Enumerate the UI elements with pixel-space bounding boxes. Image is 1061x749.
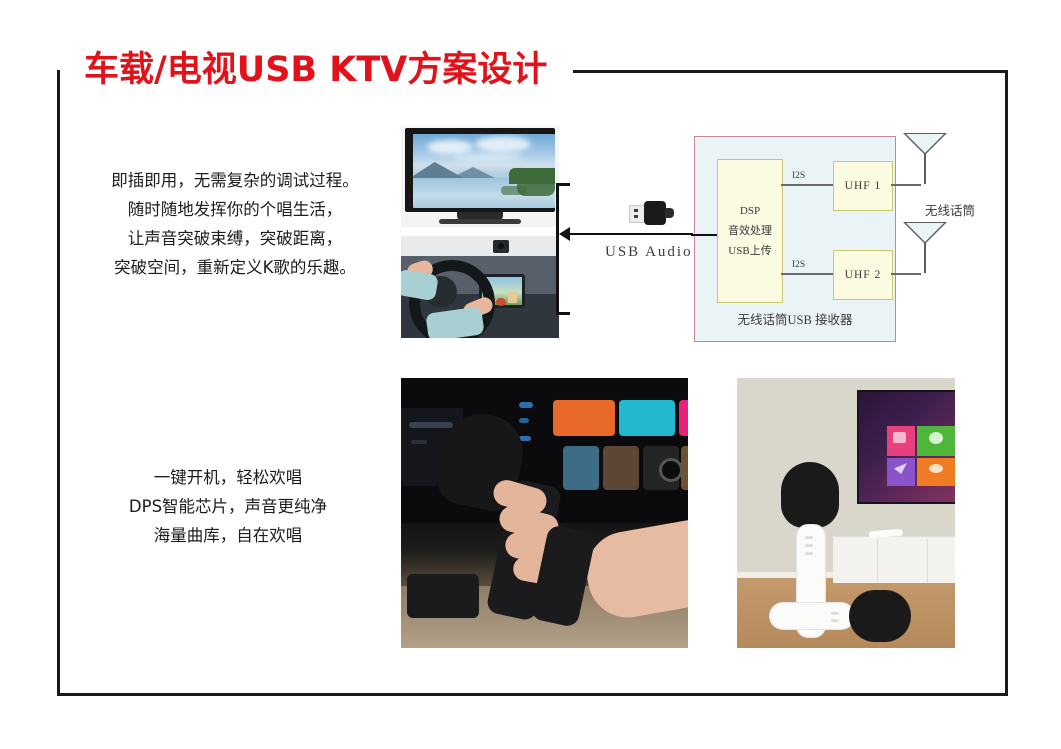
screen-thumb bbox=[563, 446, 599, 490]
cloud-shape bbox=[427, 140, 473, 154]
screen-tile-cyan bbox=[619, 400, 675, 436]
usb-audio-label: USB Audio bbox=[605, 244, 693, 261]
usb-pin bbox=[634, 215, 638, 218]
tv-icon-chat bbox=[929, 432, 943, 444]
microphones-living-room-photo bbox=[737, 378, 955, 648]
screen-tile-orange bbox=[553, 400, 615, 436]
screen-thumb bbox=[681, 446, 688, 490]
antenna-triangle-inner bbox=[906, 223, 944, 242]
feature-paragraph-top: 即插即用，无需复杂的调试过程。 随时随地发挥你的个唱生活， 让声音突破束缚，突破… bbox=[80, 166, 390, 282]
usb-pin bbox=[634, 209, 638, 212]
antenna-stem bbox=[924, 243, 926, 273]
antenna-wire-bottom bbox=[891, 273, 921, 275]
screen-text-line bbox=[411, 440, 427, 444]
car-windshield bbox=[401, 236, 559, 258]
microphone-button bbox=[831, 619, 839, 622]
screen-tile bbox=[496, 298, 506, 306]
cloud-shape bbox=[453, 152, 523, 162]
bracket-top-arm bbox=[556, 183, 570, 186]
uhf2-label: UHF 2 bbox=[845, 269, 882, 281]
i2s-label-top: I2S bbox=[792, 171, 805, 181]
antenna-stem bbox=[924, 154, 926, 184]
microphone-button bbox=[805, 536, 813, 539]
tv-foot bbox=[439, 219, 521, 224]
copy-line: 海量曲库，自在欢唱 bbox=[78, 521, 378, 550]
tv-icon-eye bbox=[929, 464, 943, 473]
feature-paragraph-bottom: 一键开机，轻松欢唱 DPS智能芯片，声音更纯净 海量曲库，自在欢唱 bbox=[78, 463, 378, 550]
car-dashboard-photo bbox=[401, 236, 559, 338]
slide-canvas: 车载/电视USB KTV方案设计 即插即用，无需复杂的调试过程。 随时随地发挥你… bbox=[0, 0, 1061, 749]
screen-tile-pink bbox=[679, 400, 688, 436]
bracket-bottom-arm bbox=[556, 312, 570, 315]
microphone-foam-head-lying bbox=[849, 590, 911, 642]
dsp-title: DSP bbox=[740, 201, 760, 221]
antenna-triangle bbox=[903, 133, 947, 155]
diagram-caption: 无线话筒USB 接收器 bbox=[695, 309, 895, 328]
i2s-wire-top bbox=[781, 184, 833, 186]
copy-line: 随时随地发挥你的个唱生活， bbox=[80, 195, 390, 224]
cabinet-seam bbox=[877, 539, 878, 583]
microphone-button bbox=[805, 544, 813, 547]
signal-arrow-line bbox=[566, 233, 693, 235]
tv-cabinet bbox=[833, 536, 955, 583]
copy-line: DPS智能芯片，声音更纯净 bbox=[78, 492, 378, 521]
copy-line: 一键开机，轻松欢唱 bbox=[78, 463, 378, 492]
antenna-triangle bbox=[903, 222, 947, 244]
tv-screen bbox=[413, 134, 555, 208]
copy-line: 突破空间，重新定义K歌的乐趣。 bbox=[80, 253, 390, 282]
screen-thumb-disc bbox=[659, 458, 683, 482]
usb-shell bbox=[644, 201, 666, 225]
copy-line: 让声音突破束缚，突破距离， bbox=[80, 224, 390, 253]
tv-bezel bbox=[405, 128, 555, 212]
screen-text-line bbox=[409, 422, 453, 428]
usb-tail bbox=[665, 208, 674, 218]
bracket-vertical bbox=[556, 183, 559, 315]
frame-right-border bbox=[1005, 72, 1008, 696]
uhf1-label: UHF 1 bbox=[845, 180, 882, 192]
receiver-block-diagram: DSP 音效处理 USB上传 UHF 1 UHF 2 I2S I2S 无线话筒U… bbox=[694, 136, 896, 342]
screen-tile bbox=[508, 292, 517, 303]
car-air-vent bbox=[407, 574, 479, 618]
microphone-button bbox=[805, 552, 813, 555]
i2s-wire-bottom bbox=[781, 273, 833, 275]
usb-plug-icon bbox=[629, 201, 673, 225]
dsp-line-audio: 音效处理 bbox=[728, 221, 772, 241]
cabinet-seam bbox=[927, 539, 928, 583]
i2s-label-bottom: I2S bbox=[792, 260, 805, 270]
screen-badge bbox=[519, 402, 533, 408]
uhf2-block: UHF 2 bbox=[833, 250, 893, 300]
wireless-mic-label: 无线话筒 bbox=[925, 200, 975, 219]
dsp-line-usb: USB上传 bbox=[728, 241, 771, 261]
frame-top-border bbox=[573, 70, 1008, 73]
wall-tv bbox=[857, 390, 955, 504]
frame-left-border bbox=[57, 70, 60, 696]
tv-photo bbox=[401, 126, 559, 227]
tv-icon-music bbox=[893, 432, 906, 443]
frame-bottom-border bbox=[57, 693, 1008, 696]
microphone-in-car-photo bbox=[401, 378, 688, 648]
cloud-shape bbox=[475, 136, 531, 152]
usb-input-wire bbox=[691, 234, 717, 236]
copy-line: 即插即用，无需复杂的调试过程。 bbox=[80, 166, 390, 195]
screen-thumb bbox=[603, 446, 639, 490]
uhf1-block: UHF 1 bbox=[833, 161, 893, 211]
antenna-wire-top bbox=[891, 184, 921, 186]
screen-badge bbox=[519, 418, 529, 423]
dashcam-lens bbox=[498, 243, 504, 249]
antenna-triangle-inner bbox=[906, 134, 944, 153]
microphone-handle-lying bbox=[769, 602, 855, 630]
microphone-foam-head-standing bbox=[781, 462, 839, 528]
foliage-shape bbox=[501, 186, 527, 195]
page-title: 车载/电视USB KTV方案设计 bbox=[84, 41, 547, 92]
dsp-block: DSP 音效处理 USB上传 bbox=[717, 159, 783, 303]
microphone-button bbox=[831, 612, 839, 615]
left-arrow-icon bbox=[559, 227, 570, 241]
